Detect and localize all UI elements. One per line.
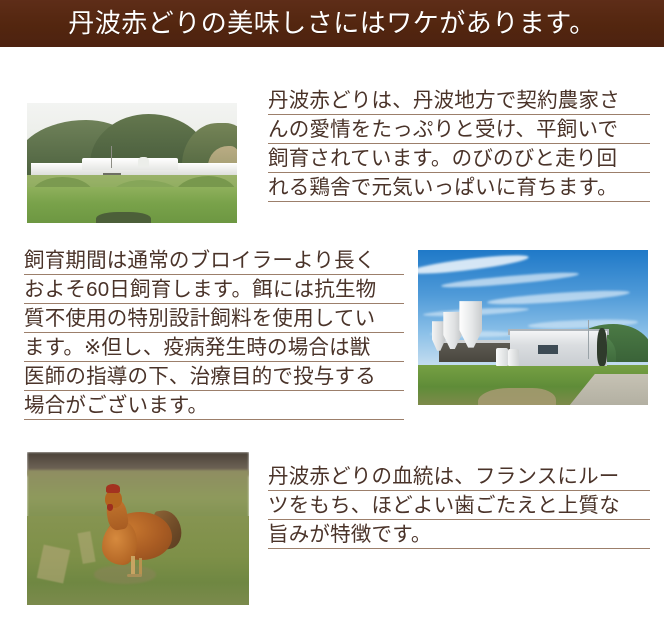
paragraph-line: れる鶏舎で元気いっぱいに育ちます。 [268,173,650,202]
page-header-banner: 丹波赤どりの美味しさにはワケがあります。 [0,0,664,47]
paragraph-line: 場合がございます。 [24,391,404,420]
paragraph-line: 医師の指導の下、治療目的で投与する [24,362,404,391]
barn-window [538,345,559,354]
paragraph-line: 飼育期間は通常のブロイラーより長く [24,246,404,275]
paragraph-line: ツをもち、ほどよい歯ごたえと上質な [268,491,650,520]
farm-sheds-photo [27,103,237,223]
page-title: 丹波赤どりの美味しさにはワケがあります。 [68,10,595,38]
hen-grass-photo [27,452,249,605]
feed-tank-left [496,348,508,367]
paragraph-line: 旨みが特徴です。 [268,520,650,549]
poultry-shed-upper [82,158,179,170]
paragraph-line: ます。※但し、疫病発生時の場合は獣 [24,333,404,362]
feed-tank-right [508,349,520,366]
paragraph-line: 丹波赤どりは、丹波地方で契約農家さ [268,86,650,115]
hen-wattle [107,504,113,511]
intro-paragraph: 丹波赤どりは、丹波地方で契約農家さ んの愛情をたっぷりと受け、平飼いで 飼育され… [268,86,650,202]
water-channel [96,212,151,223]
silo-tower [138,157,149,167]
lineage-paragraph: 丹波赤どりの血統は、フランスにルー ツをもち、ほどよい歯ごたえと上質な 旨みが特… [268,462,650,549]
hen-leg-back [139,558,143,576]
feeding-paragraph: 飼育期間は通常のブロイラーより長く およそ60日飼育します。餌には抗生物 質不使… [24,246,404,420]
hen-leg-front [131,556,135,576]
paragraph-line: およそ60日飼育します。餌には抗生物 [24,275,404,304]
paragraph-line: 飼育されています。のびのびと走り回 [268,144,650,173]
paragraph-line: んの愛情をたっぷりと受け、平飼いで [268,115,650,144]
dirt-patch [478,388,556,405]
paragraph-line: 質不使用の特別設計飼料を使用してい [24,304,404,333]
hen-comb [106,484,120,493]
hen-foot [127,574,142,578]
poultry-barn [510,331,607,367]
roadside-tree [597,328,606,367]
paragraph-line: 丹波赤どりの血統は、フランスにルー [268,462,650,491]
utility-pole [588,320,589,359]
brown-hen [102,489,177,578]
barn-silos-photo [418,250,648,405]
utility-pole [111,146,112,168]
